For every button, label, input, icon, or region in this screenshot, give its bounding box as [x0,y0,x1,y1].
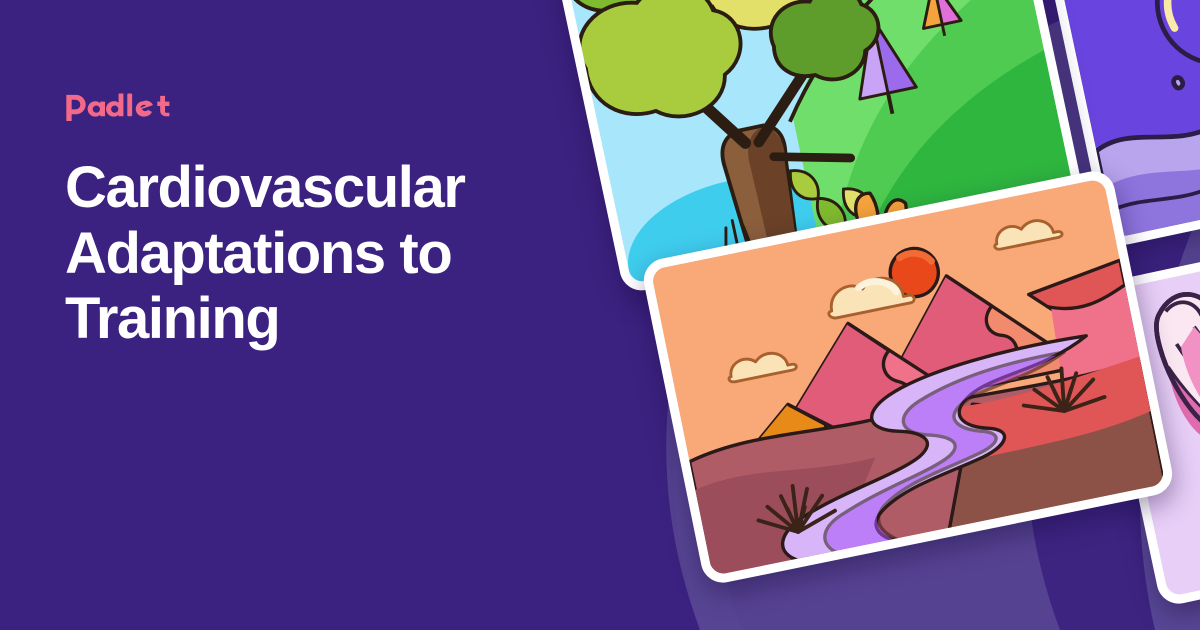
page-title: Cardiovascular Adaptations to Training [65,155,535,352]
text-column: Cardiovascular Adaptations to Training [65,92,535,352]
padlet-wordmark-icon [65,92,177,122]
padlet-logo[interactable] [65,92,535,124]
share-card-canvas: Cardiovascular Adaptations to Training [0,0,1200,630]
